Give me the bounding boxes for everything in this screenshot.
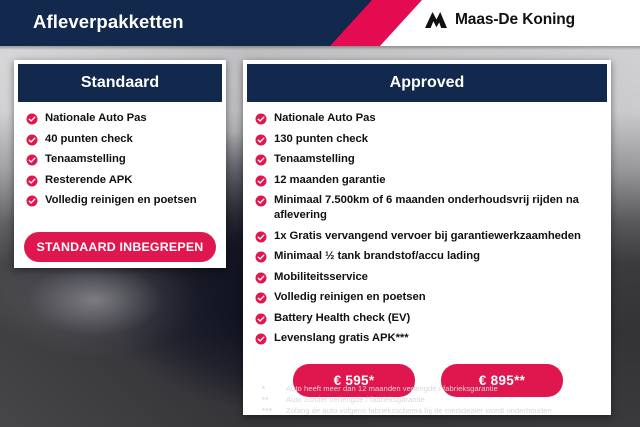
list-item: Tenaamstelling: [255, 152, 601, 167]
check-circle-icon: [26, 134, 38, 146]
list-item: Volledig reinigen en poetsen: [26, 193, 216, 208]
standaard-cta-wrap: STANDAARD INBEGREPEN: [14, 224, 226, 268]
card-standaard-body: Nationale Auto Pas 40 punten check Tenaa…: [14, 102, 226, 224]
list-item: Levenslang gratis APK***: [255, 331, 601, 346]
card-standaard: Standaard Nationale Auto Pas 40 punten c…: [14, 60, 226, 268]
feature-label: Mobiliteitsservice: [274, 270, 368, 285]
list-item: Minimaal 7.500km of 6 maanden onderhouds…: [255, 193, 601, 223]
footnote-marker: ***: [262, 405, 286, 416]
feature-label: Tenaamstelling: [45, 152, 126, 167]
footnote-text: Auto heeft meer dan 12 maanden verlengde…: [286, 383, 622, 394]
brand-logo: Maas-De Koning: [424, 11, 575, 29]
check-circle-icon: [255, 292, 267, 304]
check-circle-icon: [255, 231, 267, 243]
feature-label: 1x Gratis vervangend vervoer bij garanti…: [274, 229, 581, 244]
feature-label: Battery Health check (EV): [274, 311, 410, 326]
check-circle-icon: [255, 134, 267, 146]
check-circle-icon: [255, 154, 267, 166]
list-item: Nationale Auto Pas: [255, 111, 601, 126]
standaard-feature-list: Nationale Auto Pas 40 punten check Tenaa…: [26, 111, 216, 208]
check-circle-icon: [255, 313, 267, 325]
standaard-inbegrepen-button[interactable]: STANDAARD INBEGREPEN: [24, 232, 216, 262]
check-circle-icon: [26, 154, 38, 166]
card-approved: Approved Nationale Auto Pas 130 punten c…: [243, 60, 611, 415]
footnote-marker: **: [262, 394, 286, 405]
approved-feature-list: Nationale Auto Pas 130 punten check Tena…: [255, 111, 601, 346]
check-circle-icon: [26, 195, 38, 207]
check-circle-icon: [255, 272, 267, 284]
check-circle-icon: [26, 175, 38, 187]
list-item: 40 punten check: [26, 132, 216, 147]
card-approved-title: Approved: [247, 64, 607, 102]
list-item: Volledig reinigen en poetsen: [255, 290, 601, 305]
maas-de-koning-mark-icon: [424, 11, 448, 29]
footnote-1: * Auto heeft meer dan 12 maanden verleng…: [262, 383, 622, 394]
list-item: Minimaal ½ tank brandstof/accu lading: [255, 249, 601, 264]
feature-label: Nationale Auto Pas: [45, 111, 147, 126]
feature-label: 40 punten check: [45, 132, 133, 147]
footnote-text: Zolang de auto volgens fabrieksschema bi…: [286, 405, 622, 416]
card-approved-body: Nationale Auto Pas 130 punten check Tena…: [243, 102, 611, 415]
feature-label: Minimaal 7.500km of 6 maanden onderhouds…: [274, 193, 601, 223]
list-item: 1x Gratis vervangend vervoer bij garanti…: [255, 229, 601, 244]
feature-label: 12 maanden garantie: [274, 173, 385, 188]
check-circle-icon: [255, 251, 267, 263]
brand-name: Maas-De Koning: [455, 11, 575, 29]
check-circle-icon: [255, 113, 267, 125]
list-item: 130 punten check: [255, 132, 601, 147]
page-title: Afleverpakketten: [33, 11, 184, 33]
list-item: Nationale Auto Pas: [26, 111, 216, 126]
slide-root: Afleverpakketten Maas-De Koning Standaar…: [0, 0, 640, 427]
list-item: Tenaamstelling: [26, 152, 216, 167]
feature-label: Minimaal ½ tank brandstof/accu lading: [274, 249, 480, 264]
list-item: Resterende APK: [26, 173, 216, 188]
card-standaard-title: Standaard: [18, 64, 222, 102]
list-item: Battery Health check (EV): [255, 311, 601, 326]
check-circle-icon: [255, 195, 267, 207]
feature-label: Levenslang gratis APK***: [274, 331, 409, 346]
list-item: 12 maanden garantie: [255, 173, 601, 188]
footnote-2: ** Auto zonder verlengde / fabrieksgaran…: [262, 394, 622, 405]
feature-label: Volledig reinigen en poetsen: [45, 193, 197, 208]
feature-label: 130 punten check: [274, 132, 368, 147]
footnote-marker: *: [262, 383, 286, 394]
footnote-text: Auto zonder verlengde / fabrieksgarantie: [286, 394, 622, 405]
feature-label: Volledig reinigen en poetsen: [274, 290, 426, 305]
feature-label: Resterende APK: [45, 173, 132, 188]
page-header: Afleverpakketten Maas-De Koning: [0, 0, 640, 46]
check-circle-icon: [255, 175, 267, 187]
feature-label: Nationale Auto Pas: [274, 111, 376, 126]
check-circle-icon: [26, 113, 38, 125]
footnotes: * Auto heeft meer dan 12 maanden verleng…: [262, 383, 622, 416]
feature-label: Tenaamstelling: [274, 152, 355, 167]
list-item: Mobiliteitsservice: [255, 270, 601, 285]
footnote-3: *** Zolang de auto volgens fabrieksschem…: [262, 405, 622, 416]
header-shadow: [0, 46, 640, 50]
check-circle-icon: [255, 333, 267, 345]
